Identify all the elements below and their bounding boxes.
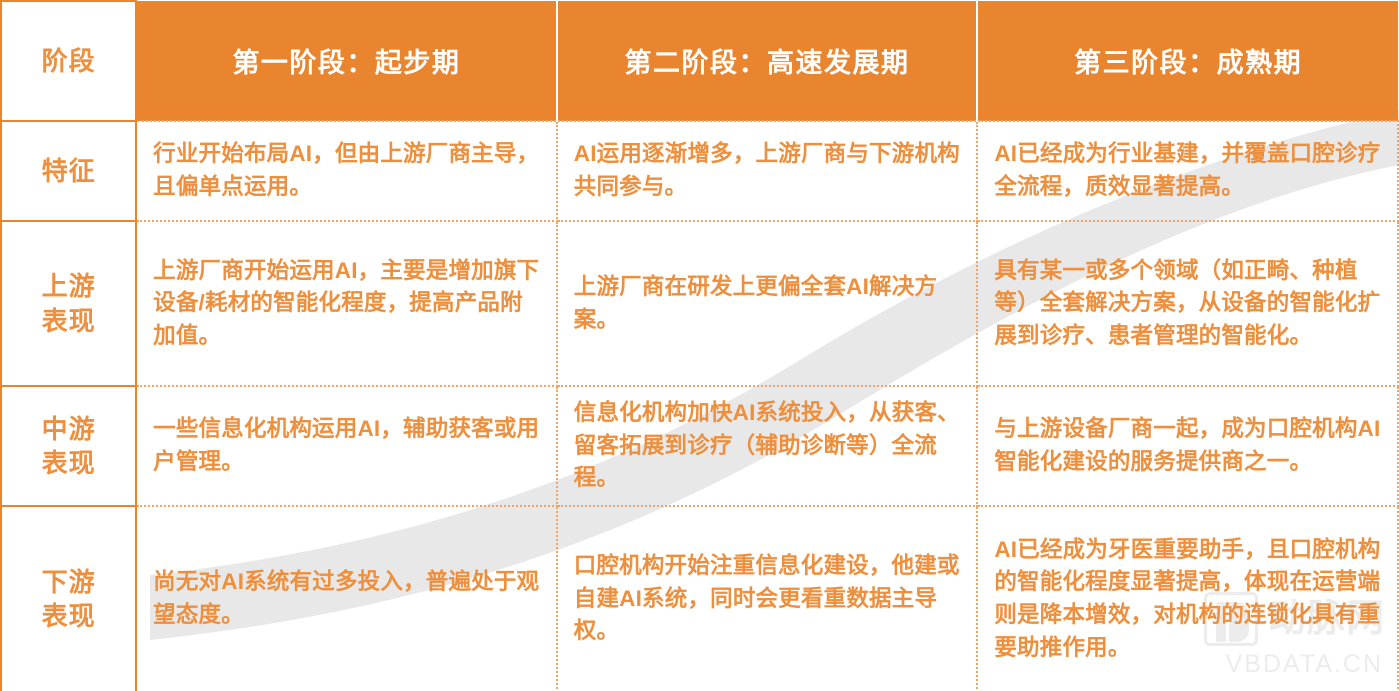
cell-text: 上游厂商在研发上更偏全套AI解决方案。 <box>574 271 963 336</box>
cell-midstream-stage1: 一些信息化机构运用AI，辅助获客或用户管理。 <box>136 386 557 506</box>
stage-matrix-table: 阶段 第一阶段：起步期 第二阶段：高速发展期 第三阶段：成熟期 特征 行业开始布… <box>0 0 1399 691</box>
cell-characteristics-stage3: AI已经成为行业基建，并覆盖口腔诊疗全流程，质效显著提高。 <box>977 121 1398 221</box>
table-row: 特征 行业开始布局AI，但由上游厂商主导，且偏单点运用。 AI运用逐渐增多，上游… <box>1 121 1398 221</box>
table-row: 下游 表现 尚无对AI系统有过多投入，普遍处于观望态度。 口腔机构开始注重信息化… <box>1 506 1398 691</box>
stage-header-3: 第三阶段：成熟期 <box>977 1 1398 121</box>
cell-text: 行业开始布局AI，但由上游厂商主导，且偏单点运用。 <box>153 138 542 203</box>
cell-text: 一些信息化机构运用AI，辅助获客或用户管理。 <box>153 413 542 478</box>
cell-text: 信息化机构加快AI系统投入，从获客、留客拓展到诊疗（辅助诊断等）全流程。 <box>574 397 963 495</box>
row-label-line2: 表现 <box>42 306 96 336</box>
cell-text: 与上游设备厂商一起，成为口腔机构AI智能化建设的服务提供商之一。 <box>994 413 1383 478</box>
infographic-root: 动脉网 VBDATA.CN 阶段 第一阶段：起步期 第二阶段：高速发展期 第三阶… <box>0 0 1399 691</box>
cell-downstream-stage2: 口腔机构开始注重信息化建设，他建或自建AI系统，同时会更看重数据主导权。 <box>557 506 978 691</box>
row-label-line2: 表现 <box>42 448 96 478</box>
corner-label-stage: 阶段 <box>1 1 136 121</box>
row-label-upstream: 上游 表现 <box>1 221 136 386</box>
cell-text: 尚无对AI系统有过多投入，普遍处于观望态度。 <box>153 566 542 631</box>
cell-characteristics-stage2: AI运用逐渐增多，上游厂商与下游机构共同参与。 <box>557 121 978 221</box>
row-label-downstream: 下游 表现 <box>1 506 136 691</box>
cell-text: AI已经成为牙医重要助手，且口腔机构的智能化程度显著提高，体现在运营端则是降本增… <box>994 534 1383 665</box>
cell-upstream-stage1: 上游厂商开始运用AI，主要是增加旗下设备/耗材的智能化程度，提高产品附加值。 <box>136 221 557 386</box>
cell-upstream-stage3: 具有某一或多个领域（如正畸、种植等）全套解决方案，从设备的智能化扩展到诊疗、患者… <box>977 221 1398 386</box>
row-label-midstream: 中游 表现 <box>1 386 136 506</box>
row-label-line1: 中游 <box>42 414 96 444</box>
cell-downstream-stage3: AI已经成为牙医重要助手，且口腔机构的智能化程度显著提高，体现在运营端则是降本增… <box>977 506 1398 691</box>
stage-header-2: 第二阶段：高速发展期 <box>557 1 978 121</box>
cell-text: AI已经成为行业基建，并覆盖口腔诊疗全流程，质效显著提高。 <box>994 138 1383 203</box>
cell-upstream-stage2: 上游厂商在研发上更偏全套AI解决方案。 <box>557 221 978 386</box>
cell-text: 具有某一或多个领域（如正畸、种植等）全套解决方案，从设备的智能化扩展到诊疗、患者… <box>994 255 1383 353</box>
cell-text: 口腔机构开始注重信息化建设，他建或自建AI系统，同时会更看重数据主导权。 <box>574 550 963 648</box>
cell-text: 上游厂商开始运用AI，主要是增加旗下设备/耗材的智能化程度，提高产品附加值。 <box>153 255 542 353</box>
cell-midstream-stage3: 与上游设备厂商一起，成为口腔机构AI智能化建设的服务提供商之一。 <box>977 386 1398 506</box>
table-header-row: 阶段 第一阶段：起步期 第二阶段：高速发展期 第三阶段：成熟期 <box>1 1 1398 121</box>
cell-characteristics-stage1: 行业开始布局AI，但由上游厂商主导，且偏单点运用。 <box>136 121 557 221</box>
table-row: 中游 表现 一些信息化机构运用AI，辅助获客或用户管理。 信息化机构加快AI系统… <box>1 386 1398 506</box>
row-label-line2: 表现 <box>42 601 96 631</box>
cell-midstream-stage2: 信息化机构加快AI系统投入，从获客、留客拓展到诊疗（辅助诊断等）全流程。 <box>557 386 978 506</box>
cell-downstream-stage1: 尚无对AI系统有过多投入，普遍处于观望态度。 <box>136 506 557 691</box>
stage-header-1: 第一阶段：起步期 <box>136 1 557 121</box>
row-label-characteristics: 特征 <box>1 121 136 221</box>
row-label-line1: 下游 <box>42 567 96 597</box>
row-label-line1: 上游 <box>42 271 96 301</box>
cell-text: AI运用逐渐增多，上游厂商与下游机构共同参与。 <box>574 138 963 203</box>
table-row: 上游 表现 上游厂商开始运用AI，主要是增加旗下设备/耗材的智能化程度，提高产品… <box>1 221 1398 386</box>
